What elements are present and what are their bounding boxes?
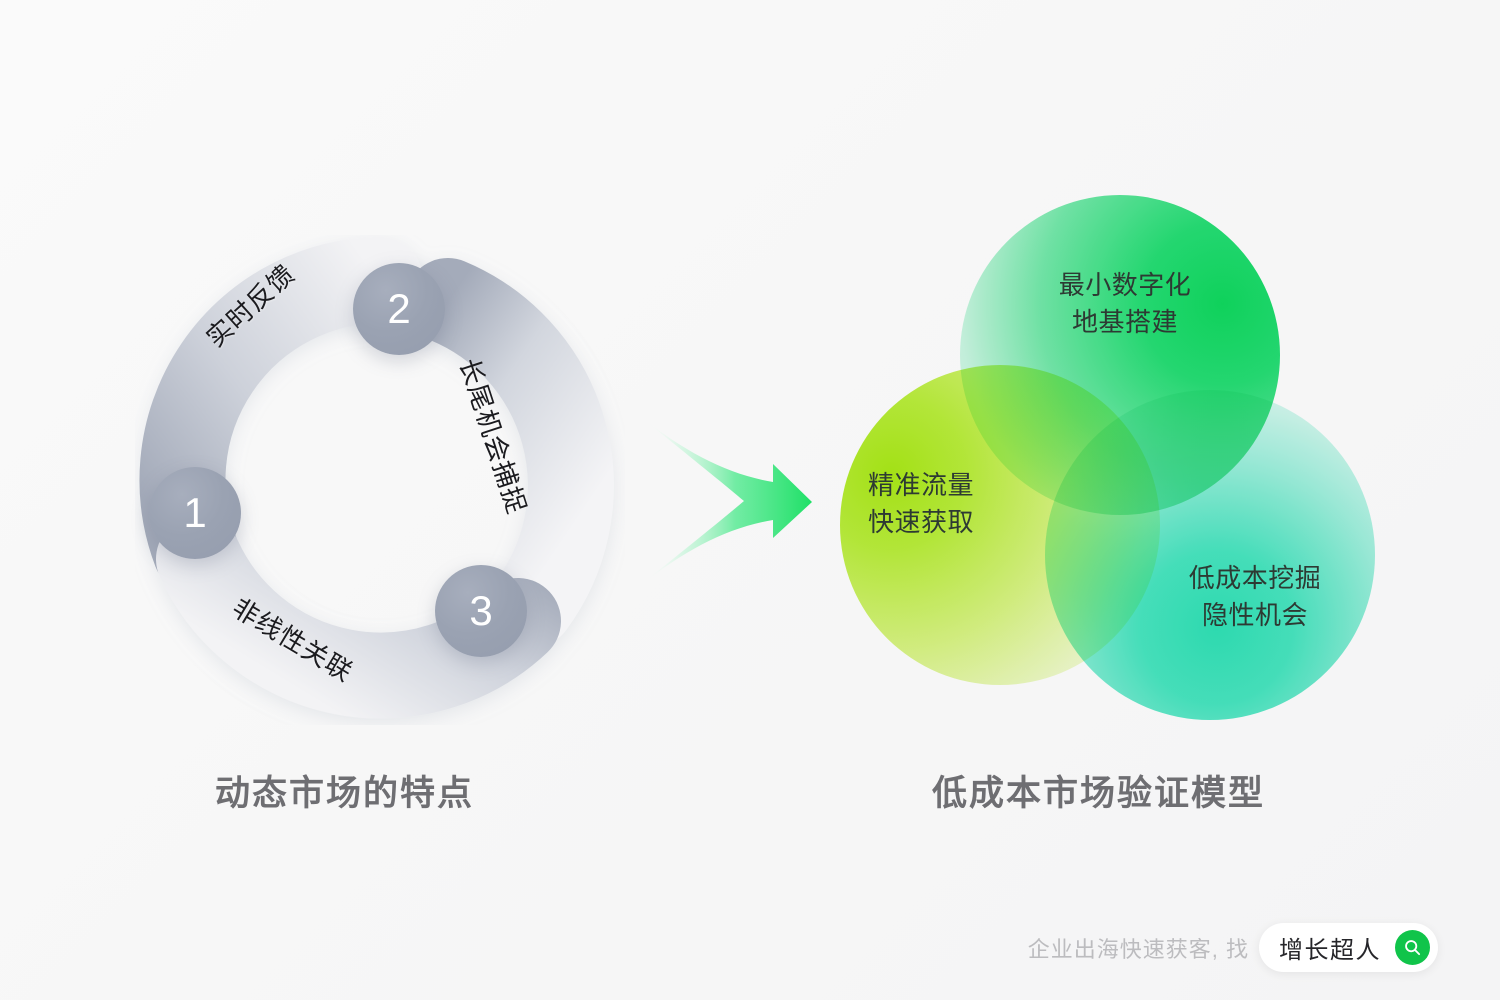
arrow-icon	[640, 410, 840, 590]
caption-validation-model: 低成本市场验证模型	[932, 765, 1265, 816]
step-badge-1[interactable]: 1	[149, 467, 241, 559]
blob-label-lowcost-hidden-opportunity: 低成本挖掘 隐性机会	[1150, 560, 1360, 634]
transition-arrow	[640, 410, 840, 590]
blob-label-precise-traffic: 精准流量 快速获取	[868, 467, 1058, 541]
caption-dynamic-market: 动态市场的特点	[215, 765, 474, 816]
search-icon[interactable]	[1395, 930, 1430, 965]
validation-model-diagram: 最小数字化 地基搭建 精准流量 快速获取 低成本挖掘 隐性机会	[840, 195, 1420, 725]
step-badge-3[interactable]: 3	[435, 565, 527, 657]
donut-ring: 实时反馈 长尾机会捕捉 非线性关联 1 2 3	[135, 235, 625, 725]
watermark-brand-name: 增长超人	[1279, 930, 1381, 965]
watermark-brand-pill[interactable]: 增长超人	[1259, 923, 1438, 972]
step-badge-2[interactable]: 2	[353, 263, 445, 355]
watermark-tagline: 企业出海快速获客, 找	[1028, 932, 1249, 964]
dynamic-market-diagram: 实时反馈 长尾机会捕捉 非线性关联 1 2 3	[135, 235, 635, 735]
watermark: 企业出海快速获客, 找 增长超人	[1028, 923, 1438, 972]
infographic-canvas: 实时反馈 长尾机会捕捉 非线性关联 1 2 3 最小数字化 地	[0, 0, 1500, 1000]
blob-label-minimal-digital-foundation: 最小数字化 地基搭建	[1025, 267, 1225, 341]
